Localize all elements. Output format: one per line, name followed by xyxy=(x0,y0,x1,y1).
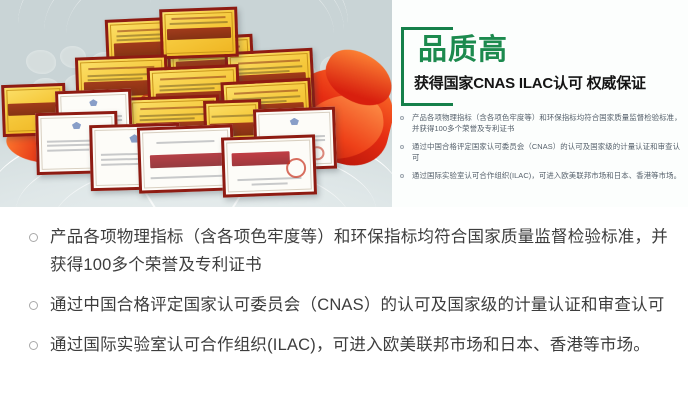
bullet-circle-icon xyxy=(29,233,38,242)
content-bullet-list: 产品各项物理指标（含各项色牢度等）和环保指标均符合国家质量监督检验标准，并获得1… xyxy=(0,207,688,417)
certificate-document xyxy=(137,124,235,193)
certificate-plaque xyxy=(159,7,239,60)
banner-bullet-item: 产品各项物理指标（含各项色牢度等）和环保指标均符合国家质量监督检验标准，并获得1… xyxy=(398,112,684,134)
banner-bullet-item: 通过中国合格评定国家认可委员会（CNAS）的认可及国家级的计量认证和审查认可 xyxy=(398,141,684,163)
bullet-circle-icon xyxy=(29,341,38,350)
content-bullet-item: 通过中国合格评定国家认可委员会（CNAS）的认可及国家级的计量认证和审查认可 xyxy=(16,291,672,319)
banner-bullet-text: 产品各项物理指标（含各项色牢度等）和环保指标均符合国家质量监督检验标准，并获得1… xyxy=(412,113,682,133)
banner-bullet-text: 通过中国合格评定国家认可委员会（CNAS）的认可及国家级的计量认证和审查认可 xyxy=(412,142,680,162)
banner-subtitle: 获得国家CNAS ILAC认可 权威保证 xyxy=(414,72,646,93)
banner-bullet-list: 产品各项物理指标（含各项色牢度等）和环保指标均符合国家质量监督检验标准，并获得1… xyxy=(398,112,684,188)
content-bullet-text: 通过国际实验室认可合作组织(ILAC)，可进入欧美联邦市场和日本、香港等市场。 xyxy=(50,336,650,354)
content-bullet-text: 产品各项物理指标（含各项色牢度等）和环保指标均符合国家质量监督检验标准，并获得1… xyxy=(50,228,668,274)
content-bullet-item: 通过国际实验室认可合作组织(ILAC)，可进入欧美联邦市场和日本、香港等市场。 xyxy=(16,331,672,359)
banner-bullet-item: 通过国际实验室认可合作组织(ILAC)，可进入欧美联邦市场和日本、香港等市场。 xyxy=(398,170,684,181)
banner-text-panel: 品质高 获得国家CNAS ILAC认可 权威保证 产品各项物理指标（含各项色牢度… xyxy=(392,0,688,207)
content-bullet-text: 通过中国合格评定国家认可委员会（CNAS）的认可及国家级的计量认证和审查认可 xyxy=(50,296,664,314)
bullet-circle-icon xyxy=(400,145,404,149)
promo-banner-page: 品质高 获得国家CNAS ILAC认可 权威保证 产品各项物理指标（含各项色牢度… xyxy=(0,0,688,417)
bullet-circle-icon xyxy=(400,116,404,120)
banner-title: 品质高 xyxy=(418,36,508,65)
top-banner: 品质高 获得国家CNAS ILAC认可 权威保证 产品各项物理指标（含各项色牢度… xyxy=(0,0,688,207)
bullet-circle-icon xyxy=(29,301,38,310)
certificate-document xyxy=(221,134,317,197)
banner-bullet-text: 通过国际实验室认可合作组织(ILAC)，可进入欧美联邦市场和日本、香港等市场。 xyxy=(412,171,681,180)
content-bullet-item: 产品各项物理指标（含各项色牢度等）和环保指标均符合国家质量监督检验标准，并获得1… xyxy=(16,223,672,279)
certificate-wall-photo xyxy=(0,0,392,207)
bullet-circle-icon xyxy=(400,174,404,178)
